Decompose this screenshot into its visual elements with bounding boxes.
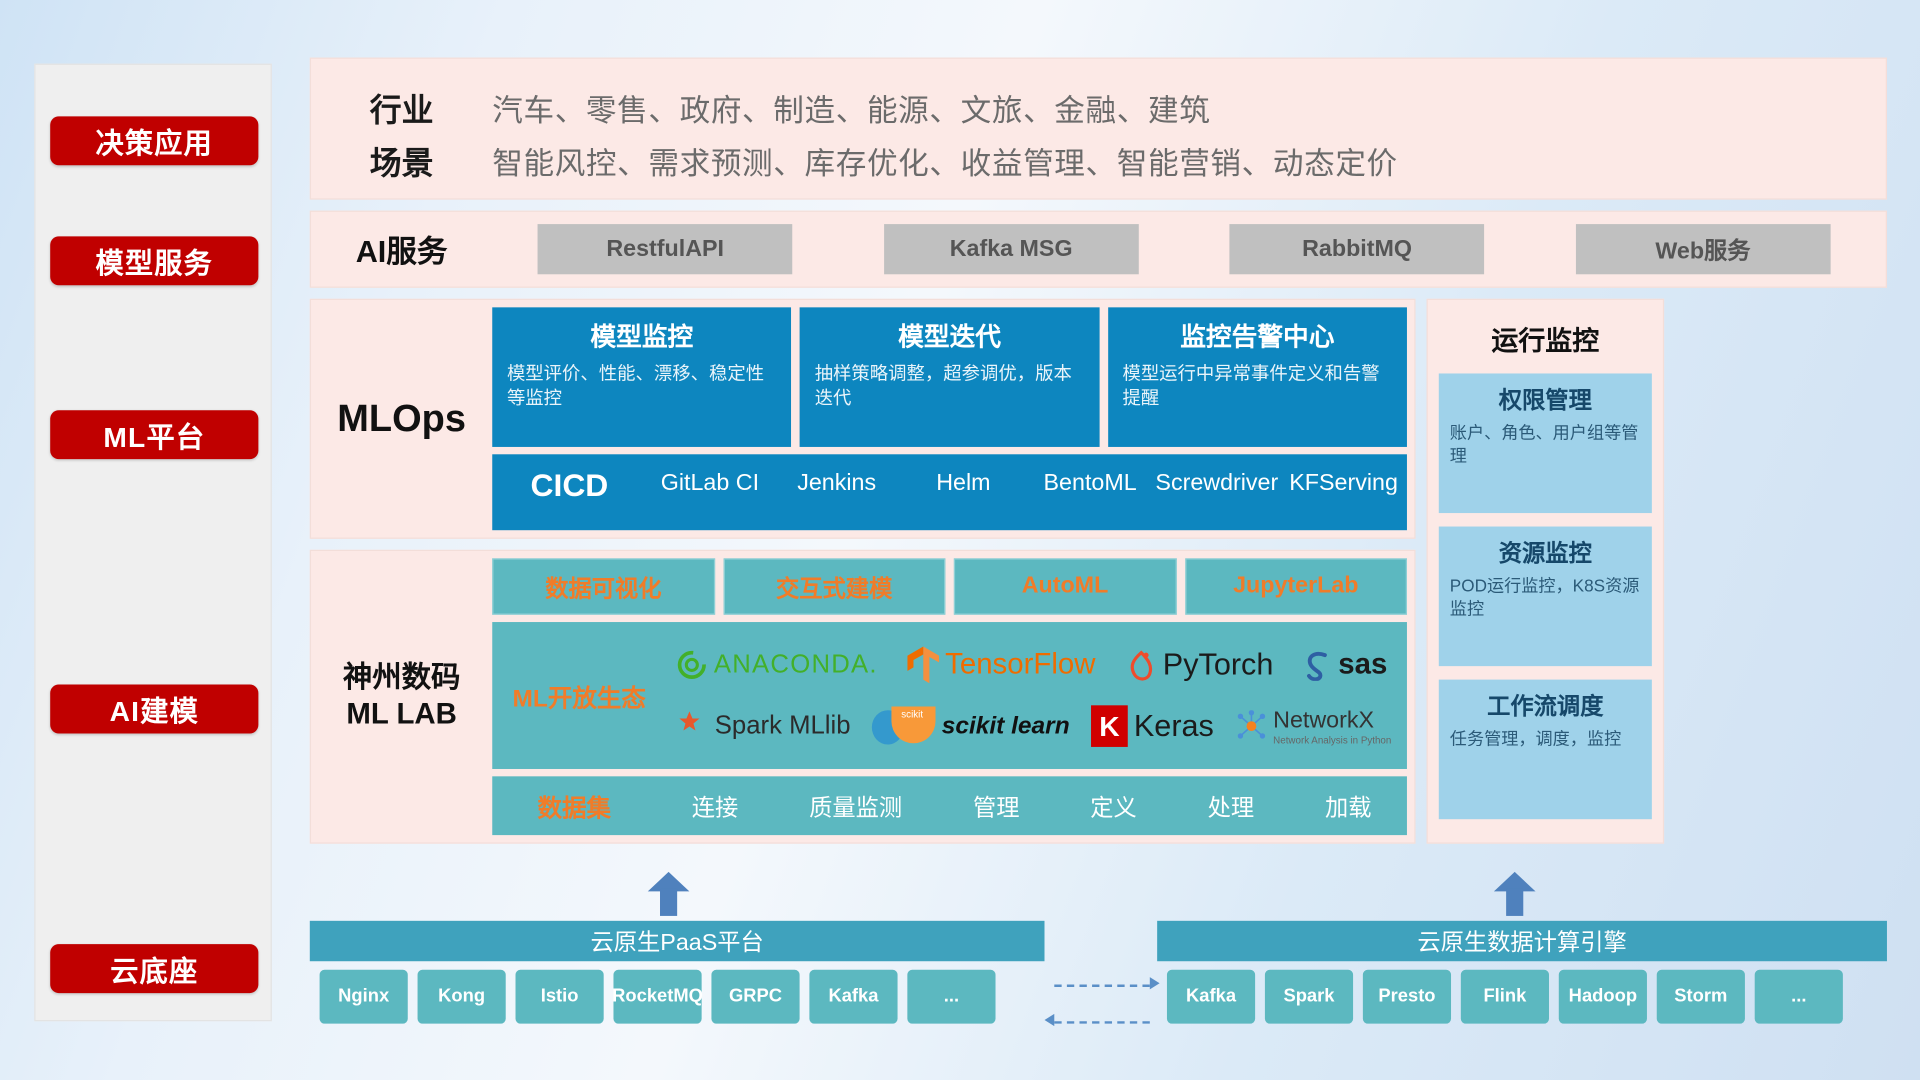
mlops-cards: 模型监控 模型评价、性能、漂移、稳定性等监控 模型迭代 抽样策略调整，超参调优，… (492, 307, 1407, 447)
compute-chip-spark[interactable]: Spark (1265, 970, 1353, 1024)
paas-chip-kong[interactable]: Kong (418, 970, 506, 1024)
mlops-card-model-monitoring[interactable]: 模型监控 模型评价、性能、漂移、稳定性等监控 (492, 307, 791, 447)
cicd-item-screwdriver[interactable]: Screwdriver (1153, 454, 1280, 494)
tool-jupyterlab[interactable]: JupyterLab (1185, 558, 1407, 614)
spark-icon (672, 709, 709, 743)
ml-ecosystem: ML开放生态 ANACONDA. (492, 622, 1407, 769)
main-stack: 行业 汽车、零售、政府、制造、能源、文旅、金融、建筑 场景 智能风控、需求预测、… (310, 58, 1887, 844)
tensorflow-icon (907, 647, 939, 684)
compute-chip-kafka[interactable]: Kafka (1167, 970, 1255, 1024)
ml-ecosystem-logos-row1: ANACONDA. TensorFlow (661, 636, 1402, 695)
cloud-foundation: 云原生PaaS平台 云原生数据计算引擎 Nginx Kong Istio Roc… (310, 872, 1887, 1056)
layer-chip-cloud-base[interactable]: 云底座 (50, 944, 258, 993)
pytorch-logo: PyTorch (1125, 647, 1274, 684)
paas-chip-more[interactable]: ... (907, 970, 995, 1024)
scenario-row: 场景 智能风控、需求预测、库存优化、收益管理、智能营销、动态定价 (311, 138, 1886, 183)
cicd-item-gitlab-ci[interactable]: GitLab CI (647, 454, 774, 494)
link-arrow-left-head-icon (1044, 1014, 1054, 1026)
industry-values: 汽车、零售、政府、制造、能源、文旅、金融、建筑 (492, 86, 1210, 130)
compute-up-arrow-icon (1494, 872, 1536, 916)
card-title: 模型迭代 (815, 317, 1085, 354)
layer-chip-label: 云底座 (110, 948, 198, 990)
paas-title-bar: 云原生PaaS平台 (310, 921, 1045, 961)
sas-logo: sas (1303, 648, 1388, 682)
compute-chips: Kafka Spark Presto Flink Hadoop Storm ..… (1167, 970, 1843, 1024)
networkx-text-group: NetworkX Network Analysis in Python (1273, 707, 1391, 745)
link-arrow-right-line (1054, 984, 1150, 986)
cicd-items: GitLab CI Jenkins Helm BentoML Screwdriv… (647, 454, 1407, 494)
anaconda-label: ANACONDA. (714, 650, 878, 679)
paas-chip-nginx[interactable]: Nginx (320, 970, 408, 1024)
service-box-kafka-msg[interactable]: Kafka MSG (884, 224, 1139, 274)
platform-row: MLOps 模型监控 模型评价、性能、漂移、稳定性等监控 模型迭代 抽样策略调整… (310, 299, 1887, 844)
cicd-item-kfserving[interactable]: KFServing (1280, 454, 1407, 494)
tool-data-visualization[interactable]: 数据可视化 (492, 558, 714, 614)
tensorflow-label: TensorFlow (945, 648, 1095, 682)
layer-chip-model-service[interactable]: 模型服务 (50, 236, 258, 285)
paas-chips: Nginx Kong Istio RocketMQ GRPC Kafka ... (320, 970, 996, 1024)
pytorch-label: PyTorch (1163, 647, 1274, 683)
ml-ecosystem-label: ML开放生态 (497, 678, 661, 714)
tool-automl[interactable]: AutoML (954, 558, 1176, 614)
service-box-web[interactable]: Web服务 (1576, 224, 1831, 274)
card-desc: 账户、角色、用户组等管理 (1450, 421, 1641, 467)
monitoring-card-workflow[interactable]: 工作流调度 任务管理，调度，监控 (1439, 680, 1652, 820)
mllab-label: 神州数码 ML LAB (311, 551, 492, 842)
cicd-label: CICD (492, 454, 646, 515)
mllab-label-line2: ML LAB (346, 697, 456, 734)
service-box-restfulapi[interactable]: RestfulAPI (538, 224, 793, 274)
monitoring-title: 运行监控 (1439, 320, 1652, 359)
layer-chip-label: AI建模 (110, 688, 199, 730)
networkx-sublabel: Network Analysis in Python (1273, 734, 1391, 745)
dataset-label: 数据集 (492, 788, 656, 824)
scikit-learn-icon: scikit (872, 707, 936, 746)
compute-chip-hadoop[interactable]: Hadoop (1559, 970, 1647, 1024)
mllab-label-line1: 神州数码 (343, 660, 461, 697)
compute-chip-storm[interactable]: Storm (1657, 970, 1745, 1024)
mlops-label: MLOps (311, 300, 492, 538)
anaconda-icon (676, 649, 708, 681)
cicd-item-helm[interactable]: Helm (900, 454, 1027, 494)
scikit-learn-label: scikit learn (942, 712, 1070, 740)
dataset-row: 数据集 连接 质量监测 管理 定义 处理 加载 (492, 776, 1407, 835)
card-title: 工作流调度 (1450, 688, 1641, 721)
monitoring-card-permission[interactable]: 权限管理 账户、角色、用户组等管理 (1439, 373, 1652, 513)
card-title: 资源监控 (1450, 535, 1641, 568)
layer-chip-label: 决策应用 (96, 120, 214, 162)
mlops-card-alert-center[interactable]: 监控告警中心 模型运行中异常事件定义和告警提醒 (1108, 307, 1407, 447)
card-desc: POD运行监控，K8S资源监控 (1450, 574, 1641, 620)
spark-mllib-logo: Spark MLlib (672, 709, 851, 743)
spark-mllib-label: Spark MLlib (715, 711, 851, 740)
ml-ecosystem-logos-row2: Spark MLlib scikit scikit learn (661, 697, 1402, 756)
networkx-logo: NetworkX Network Analysis in Python (1235, 707, 1391, 745)
service-box-rabbitmq[interactable]: RabbitMQ (1230, 224, 1485, 274)
paas-chip-grpc[interactable]: GRPC (711, 970, 799, 1024)
compute-chip-presto[interactable]: Presto (1363, 970, 1451, 1024)
ml-ecosystem-logos: ANACONDA. TensorFlow (661, 636, 1402, 756)
cicd-item-jenkins[interactable]: Jenkins (773, 454, 900, 494)
dataset-item-process[interactable]: 处理 (1208, 789, 1255, 822)
layer-rail: 决策应用 模型服务 ML平台 AI建模 云底座 (34, 64, 272, 1022)
scenario-label: 场景 (311, 138, 492, 183)
keras-label: Keras (1134, 708, 1214, 744)
card-desc: 抽样策略调整，超参调优，版本迭代 (815, 362, 1085, 412)
sas-icon (1303, 649, 1332, 681)
anaconda-logo: ANACONDA. (676, 649, 878, 681)
scenario-values: 智能风控、需求预测、库存优化、收益管理、智能营销、动态定价 (492, 139, 1398, 183)
pytorch-icon (1125, 647, 1157, 684)
dataset-item-quality[interactable]: 质量监测 (809, 789, 902, 822)
layer-chip-label: ML平台 (103, 414, 205, 456)
dataset-item-connect[interactable]: 连接 (692, 789, 739, 822)
paas-up-arrow-icon (648, 872, 690, 916)
dataset-items: 连接 质量监测 管理 定义 处理 加载 (656, 789, 1407, 822)
mlops-content: 模型监控 模型评价、性能、漂移、稳定性等监控 模型迭代 抽样策略调整，超参调优，… (492, 300, 1414, 538)
link-arrow-right-head-icon (1150, 977, 1160, 989)
paas-chip-istio[interactable]: Istio (516, 970, 604, 1024)
ai-service-label: AI服务 (311, 227, 492, 271)
industry-label: 行业 (311, 86, 492, 131)
keras-icon: K (1091, 705, 1128, 747)
dataset-item-manage[interactable]: 管理 (973, 789, 1020, 822)
card-title: 模型监控 (507, 317, 777, 354)
layer-chip-label: 模型服务 (96, 240, 214, 282)
monitoring-panel: 运行监控 权限管理 账户、角色、用户组等管理 资源监控 POD运行监控，K8S资… (1427, 299, 1665, 844)
mllab-band: 神州数码 ML LAB 数据可视化 交互式建模 AutoML JupyterLa… (310, 550, 1416, 844)
dataset-item-load[interactable]: 加载 (1325, 789, 1372, 822)
mlops-band: MLOps 模型监控 模型评价、性能、漂移、稳定性等监控 模型迭代 抽样策略调整… (310, 299, 1416, 539)
monitoring-card-resource[interactable]: 资源监控 POD运行监控，K8S资源监控 (1439, 527, 1652, 667)
paas-chip-kafka[interactable]: Kafka (809, 970, 897, 1024)
card-desc: 任务管理，调度，监控 (1450, 727, 1641, 750)
card-desc: 模型运行中异常事件定义和告警提醒 (1122, 362, 1392, 412)
compute-chip-flink[interactable]: Flink (1461, 970, 1549, 1024)
diagram-canvas: 决策应用 模型服务 ML平台 AI建模 云底座 行业 汽车、零售、政府、制造、能… (0, 0, 1920, 1080)
mllab-tools: 数据可视化 交互式建模 AutoML JupyterLab (492, 558, 1407, 614)
cicd-row: CICD GitLab CI Jenkins Helm BentoML Scre… (492, 454, 1407, 530)
card-desc: 模型评价、性能、漂移、稳定性等监控 (507, 362, 777, 412)
card-title: 权限管理 (1450, 382, 1641, 415)
ai-service-items: RestfulAPI Kafka MSG RabbitMQ Web服务 (492, 224, 1885, 274)
keras-logo: K Keras (1091, 705, 1214, 747)
mlops-card-model-iteration[interactable]: 模型迭代 抽样策略调整，超参调优，版本迭代 (800, 307, 1099, 447)
tool-interactive-modeling[interactable]: 交互式建模 (723, 558, 945, 614)
scikit-learn-logo: scikit scikit learn (872, 707, 1070, 746)
networkx-icon (1235, 710, 1267, 742)
ai-service-band: AI服务 RestfulAPI Kafka MSG RabbitMQ Web服务 (310, 211, 1887, 288)
link-arrow-left-line (1054, 1021, 1150, 1023)
layer-chip-ai-modeling[interactable]: AI建模 (50, 684, 258, 733)
compute-chip-more[interactable]: ... (1755, 970, 1843, 1024)
business-band: 行业 汽车、零售、政府、制造、能源、文旅、金融、建筑 场景 智能风控、需求预测、… (310, 58, 1887, 200)
layer-chip-decision[interactable]: 决策应用 (50, 116, 258, 165)
dataset-item-define[interactable]: 定义 (1090, 789, 1137, 822)
mllab-content: 数据可视化 交互式建模 AutoML JupyterLab ML开放生态 (492, 551, 1414, 842)
industry-row: 行业 汽车、零售、政府、制造、能源、文旅、金融、建筑 (311, 86, 1886, 131)
tensorflow-logo: TensorFlow (907, 647, 1095, 684)
networkx-label: NetworkX (1273, 707, 1374, 733)
card-title: 监控告警中心 (1122, 317, 1392, 354)
cicd-item-bentoml[interactable]: BentoML (1027, 454, 1154, 494)
paas-chip-rocketmq[interactable]: RocketMQ (613, 970, 701, 1024)
sas-label: sas (1338, 648, 1387, 682)
compute-title-bar: 云原生数据计算引擎 (1157, 921, 1887, 961)
layer-chip-ml-platform[interactable]: ML平台 (50, 410, 258, 459)
